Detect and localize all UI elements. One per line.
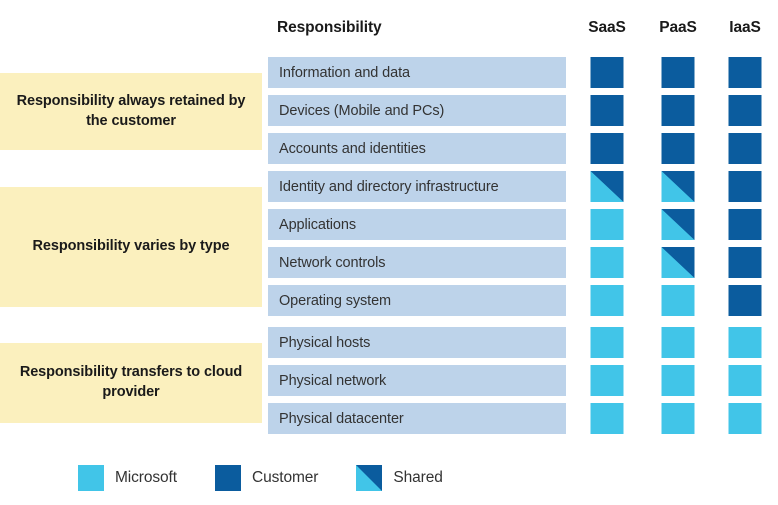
responsibility-row-label: Information and data [279,65,410,81]
responsibility-cell-iaas-customer [729,57,762,88]
responsibility-cell-iaas-microsoft [729,365,762,396]
responsibility-cell-paas-microsoft [662,285,695,316]
column-header-responsibility: Responsibility [277,19,382,37]
legend-item-shared: Shared [356,465,442,491]
legend-label: Microsoft [115,469,177,487]
category-band-label: Responsibility always retained by the cu… [10,92,252,131]
responsibility-cell-saas-customer [591,133,624,164]
responsibility-row-label: Applications [279,217,356,233]
responsibility-row-label: Devices (Mobile and PCs) [279,103,444,119]
legend-swatch-customer-icon [215,465,241,491]
responsibility-cell-paas-shared [662,247,695,278]
responsibility-cell-saas-microsoft [591,403,624,434]
responsibility-cell-iaas-customer [729,133,762,164]
category-band-label: Responsibility varies by type [33,237,230,257]
legend-label: Customer [252,469,318,487]
responsibility-cell-saas-microsoft [591,285,624,316]
responsibility-cell-saas-microsoft [591,247,624,278]
responsibility-cell-iaas-customer [729,95,762,126]
responsibility-row-label: Accounts and identities [279,141,426,157]
responsibility-row: Operating system [268,285,566,316]
responsibility-cell-saas-microsoft [591,209,624,240]
responsibility-cell-saas-customer [591,95,624,126]
responsibility-row: Physical datacenter [268,403,566,434]
responsibility-row-label: Operating system [279,293,391,309]
responsibility-row-label: Identity and directory infrastructure [279,179,499,195]
shared-responsibility-diagram: Responsibility always retained by the cu… [0,0,778,505]
category-band-varies: Responsibility varies by type [0,187,262,307]
column-header-saas: SaaS [588,19,626,37]
responsibility-cell-iaas-customer [729,247,762,278]
responsibility-row-label: Physical hosts [279,335,370,351]
responsibility-cell-paas-customer [662,57,695,88]
category-band-retained: Responsibility always retained by the cu… [0,73,262,150]
responsibility-cell-iaas-microsoft [729,327,762,358]
responsibility-cell-iaas-customer [729,171,762,202]
category-band-label: Responsibility transfers to cloud provid… [10,363,252,402]
responsibility-row: Physical hosts [268,327,566,358]
responsibility-cell-paas-microsoft [662,365,695,396]
responsibility-cell-saas-microsoft [591,327,624,358]
responsibility-cell-paas-shared [662,209,695,240]
legend-swatch-shared-icon [356,465,382,491]
legend-label: Shared [393,469,442,487]
responsibility-row: Applications [268,209,566,240]
responsibility-cell-paas-shared [662,171,695,202]
responsibility-cell-saas-customer [591,57,624,88]
responsibility-row: Network controls [268,247,566,278]
legend-swatch-microsoft-icon [78,465,104,491]
responsibility-cell-paas-customer [662,133,695,164]
responsibility-cell-saas-shared [591,171,624,202]
responsibility-row-label: Physical datacenter [279,411,404,427]
legend-item-customer: Customer [215,465,318,491]
responsibility-cell-iaas-microsoft [729,403,762,434]
responsibility-cell-iaas-customer [729,285,762,316]
responsibility-row-label: Network controls [279,255,385,271]
responsibility-cell-paas-customer [662,95,695,126]
responsibility-row: Accounts and identities [268,133,566,164]
responsibility-cell-paas-microsoft [662,327,695,358]
responsibility-cell-paas-microsoft [662,403,695,434]
responsibility-cell-saas-microsoft [591,365,624,396]
legend-item-microsoft: Microsoft [78,465,177,491]
category-band-transfers: Responsibility transfers to cloud provid… [0,343,262,423]
column-header-iaas: IaaS [729,19,761,37]
responsibility-row: Information and data [268,57,566,88]
legend: MicrosoftCustomerShared [78,465,481,491]
column-header-paas: PaaS [659,19,697,37]
responsibility-cell-iaas-customer [729,209,762,240]
responsibility-row: Identity and directory infrastructure [268,171,566,202]
responsibility-row: Physical network [268,365,566,396]
responsibility-row: Devices (Mobile and PCs) [268,95,566,126]
responsibility-row-label: Physical network [279,373,386,389]
